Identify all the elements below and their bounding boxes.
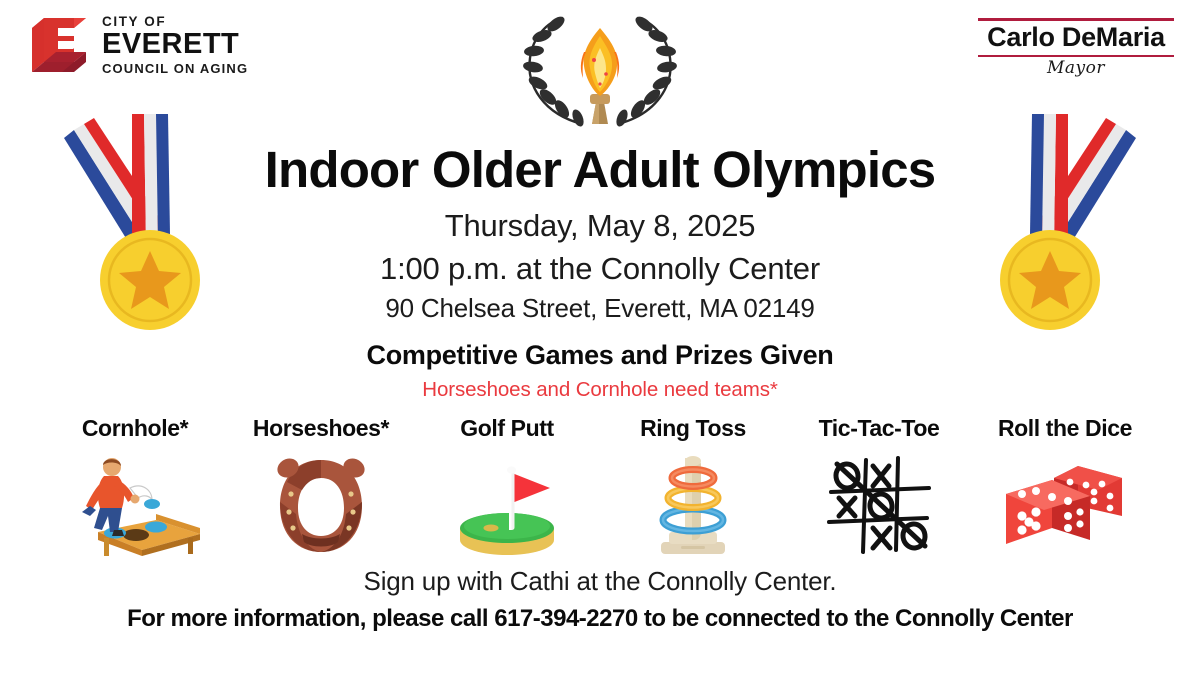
game-label: Cornhole* — [42, 415, 228, 442]
ring-toss-icon — [600, 452, 786, 560]
game-tic-tac-toe: Tic-Tac-Toe — [786, 415, 972, 560]
event-date: Thursday, May 8, 2025 — [0, 208, 1200, 244]
game-label: Tic-Tac-Toe — [786, 415, 972, 442]
everett-council-on-aging-logo: CITY OF EVERETT COUNCIL ON AGING — [28, 14, 248, 76]
everett-e-mark-icon — [28, 14, 90, 76]
tagline: Competitive Games and Prizes Given — [0, 340, 1200, 371]
game-cornhole: Cornhole* — [42, 415, 228, 560]
game-golf-putt: Golf Putt — [414, 415, 600, 560]
signup-text: Sign up with Cathi at the Connolly Cente… — [0, 566, 1200, 597]
call-info-text: For more information, please call 617-39… — [0, 605, 1200, 633]
game-horseshoes: Horseshoes* — [228, 415, 414, 560]
olympic-torch-laurel-wreath-icon — [510, 8, 690, 130]
everett-wordmark: EVERETT — [102, 31, 248, 59]
tic-tac-toe-icon — [786, 452, 972, 560]
teams-note: Horseshoes and Cornhole need teams* — [0, 378, 1200, 402]
game-label: Golf Putt — [414, 415, 600, 442]
game-roll-the-dice: Roll the Dice — [972, 415, 1158, 560]
games-row: Cornhole* — [0, 415, 1200, 560]
game-label: Horseshoes* — [228, 415, 414, 442]
dice-icon — [972, 452, 1158, 560]
event-time-place: 1:00 p.m. at the Connolly Center — [0, 251, 1200, 287]
mayor-title: Mayor — [978, 58, 1174, 78]
page-title: Indoor Older Adult Olympics — [0, 142, 1200, 197]
golf-putt-icon — [414, 452, 600, 560]
mayor-bottom-rule — [978, 55, 1174, 58]
horseshoe-icon — [228, 452, 414, 560]
city-of-label: CITY OF — [102, 15, 248, 29]
footer-block: Sign up with Cathi at the Connolly Cente… — [0, 566, 1200, 633]
main-text-block: Indoor Older Adult Olympics Thursday, Ma… — [0, 142, 1200, 402]
mayor-name: Carlo DeMaria — [978, 21, 1174, 55]
council-on-aging-label: COUNCIL ON AGING — [102, 62, 248, 75]
game-label: Ring Toss — [600, 415, 786, 442]
mayor-carlo-demaria-logo: Carlo DeMaria Mayor — [978, 18, 1174, 78]
flyer-canvas: CITY OF EVERETT COUNCIL ON AGING — [0, 0, 1200, 675]
event-address: 90 Chelsea Street, Everett, MA 02149 — [0, 293, 1200, 324]
cornhole-icon — [42, 452, 228, 560]
everett-logo-text: CITY OF EVERETT COUNCIL ON AGING — [102, 15, 248, 74]
game-ring-toss: Ring Toss — [600, 415, 786, 560]
game-label: Roll the Dice — [972, 415, 1158, 442]
